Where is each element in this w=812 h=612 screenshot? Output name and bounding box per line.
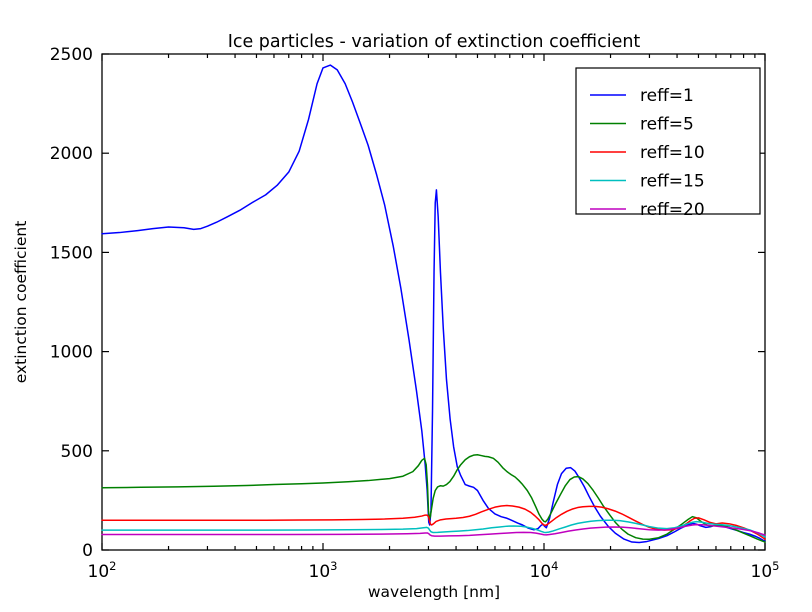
- chart-figure: Ice particles - variation of extinction …: [0, 0, 812, 612]
- legend-label[interactable]: reff=1: [640, 86, 694, 106]
- y-tick-label: 1000: [50, 343, 93, 363]
- y-tick-label: 0: [82, 541, 93, 561]
- page-title: Ice particles - variation of extinction …: [228, 32, 641, 52]
- y-tick-label: 2500: [50, 45, 93, 65]
- legend-label[interactable]: reff=5: [640, 115, 694, 135]
- legend-label[interactable]: reff=20: [640, 200, 705, 220]
- x-axis-label: wavelength [nm]: [368, 583, 500, 601]
- legend-label[interactable]: reff=10: [640, 143, 705, 163]
- y-tick-label: 500: [61, 442, 93, 462]
- plot-canvas: Ice particles - variation of extinction …: [0, 0, 812, 612]
- y-axis-label: extinction coefficient: [12, 221, 30, 384]
- legend-label[interactable]: reff=15: [640, 172, 705, 192]
- y-tick-label: 2000: [50, 144, 93, 164]
- y-tick-label: 1500: [50, 243, 93, 263]
- legend[interactable]: reff=1reff=5reff=10reff=15reff=20: [576, 68, 760, 220]
